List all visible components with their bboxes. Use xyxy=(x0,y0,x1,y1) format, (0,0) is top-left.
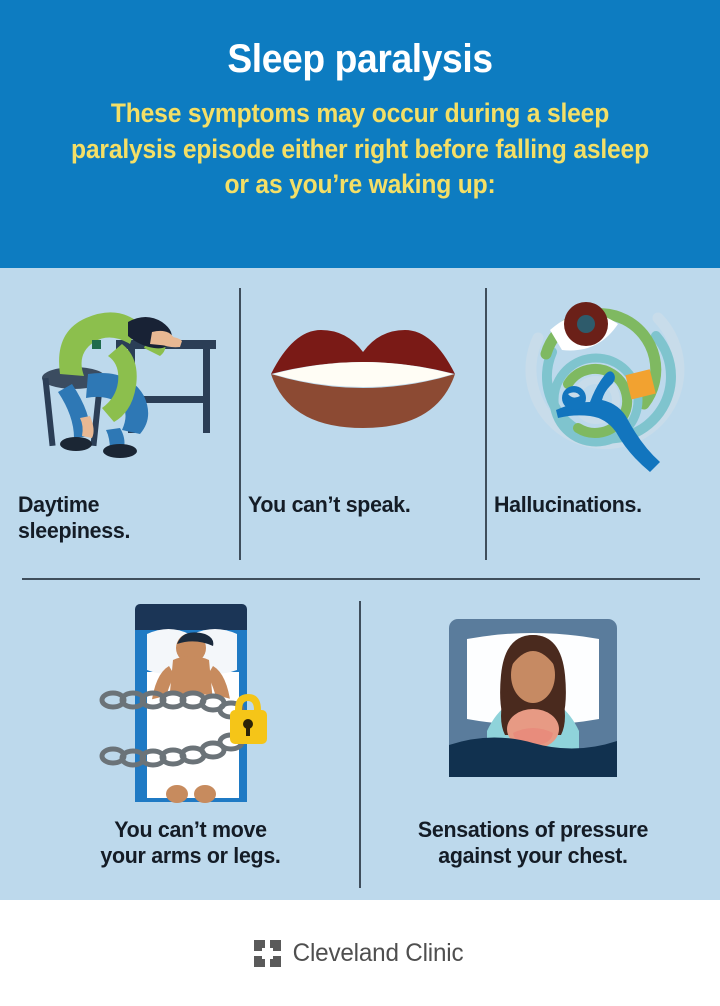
symptom-illustration-wrap xyxy=(28,600,353,805)
symptom-illustration-wrap xyxy=(248,288,478,478)
symptom-card-chest-pressure: Sensations of pressure against your ches… xyxy=(368,600,698,869)
four-corner-square-icon xyxy=(254,940,281,967)
caption-line-2: sleepiness. xyxy=(18,518,130,543)
logo-wordmark: Cleveland Clinic xyxy=(293,939,464,968)
divider-vertical-2 xyxy=(485,288,487,560)
caption-line-2: against your chest. xyxy=(438,843,627,868)
symptom-card-cannot-move-limbs: You can’t move your arms or legs. xyxy=(28,600,353,869)
symptom-caption-chest-pressure: Sensations of pressure against your ches… xyxy=(376,817,690,869)
caption-line-1: Sensations of pressure xyxy=(418,817,648,842)
eye-spiral-floating-person-icon xyxy=(508,288,693,478)
divider-vertical-3 xyxy=(359,601,361,888)
caption-line-1: You can’t move xyxy=(114,817,266,842)
infographic-footer: Cleveland Clinic xyxy=(0,900,720,1006)
symptom-card-cannot-speak: You can’t speak. xyxy=(248,288,478,518)
symptom-caption-cannot-move-limbs: You can’t move your arms or legs. xyxy=(36,817,345,869)
woman-in-bed-hands-on-chest-icon xyxy=(443,613,623,783)
symptom-caption-cannot-speak: You can’t speak. xyxy=(248,492,467,518)
caption-line-1: Daytime xyxy=(18,492,99,517)
symptom-card-hallucinations: Hallucinations. xyxy=(494,288,706,518)
page-title: Sleep paralysis xyxy=(57,38,663,80)
divider-horizontal xyxy=(22,578,700,580)
sleep-paralysis-infographic: Sleep paralysis These symptoms may occur… xyxy=(0,0,720,1006)
cleveland-clinic-logo[interactable]: Cleveland Clinic xyxy=(254,939,466,968)
header-subtitle: These symptoms may occur during a sleep … xyxy=(57,96,663,203)
divider-vertical-1 xyxy=(239,288,241,560)
infographic-header: Sleep paralysis These symptoms may occur… xyxy=(0,0,720,268)
symptom-caption-hallucinations: Hallucinations. xyxy=(494,492,695,518)
caption-line-2: your arms or legs. xyxy=(100,843,280,868)
symptom-card-daytime-sleepiness: Daytime sleepiness. xyxy=(18,288,236,544)
symptoms-panel: Daytime sleepiness. You can’t speak. xyxy=(0,268,720,900)
symptom-illustration-wrap xyxy=(494,288,706,478)
symptom-illustration-wrap xyxy=(368,600,698,805)
symptom-caption-daytime-sleepiness: Daytime sleepiness. xyxy=(18,492,225,544)
person-chained-in-bed-icon xyxy=(91,600,291,805)
closed-lips-icon xyxy=(263,306,463,446)
symptom-illustration-wrap xyxy=(18,288,236,478)
person-slumped-at-desk-icon xyxy=(32,288,222,478)
